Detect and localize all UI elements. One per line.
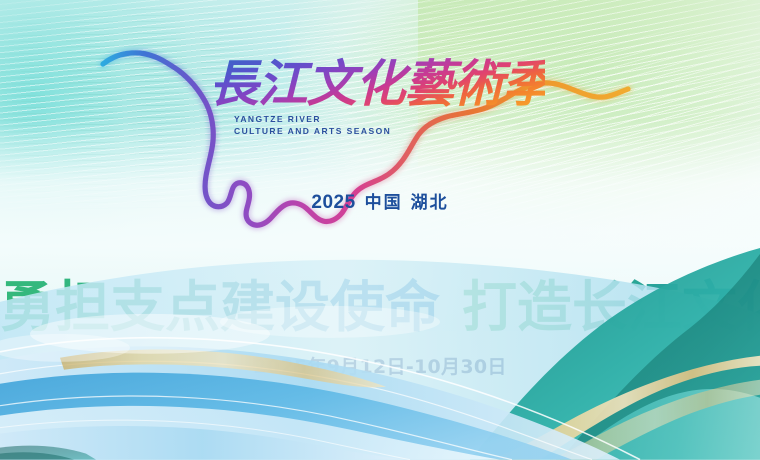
year-label: 2025 [311, 192, 355, 213]
bottom-wave-graphic [0, 248, 760, 460]
yangtze-river-map-graphic [0, 0, 760, 276]
location-label: 中国 湖北 [365, 193, 449, 213]
english-subtitle-line-2: CULTURE AND ARTS SEASON [234, 125, 391, 137]
poster-canvas: 長江文化藝術季 YANGTZE RIVER CULTURE AND ARTS S… [0, 0, 760, 460]
english-subtitle: YANGTZE RIVER CULTURE AND ARTS SEASON [234, 113, 391, 138]
year-location-line: 2025中国 湖北 [0, 188, 760, 214]
english-subtitle-line-1: YANGTZE RIVER [234, 113, 391, 125]
calligraphy-wordmark: 長江文化藝術季 [0, 44, 760, 122]
calligraphy-text: 長江文化藝術季 [215, 54, 545, 113]
festival-logo-block: 長江文化藝術季 [0, 44, 760, 122]
